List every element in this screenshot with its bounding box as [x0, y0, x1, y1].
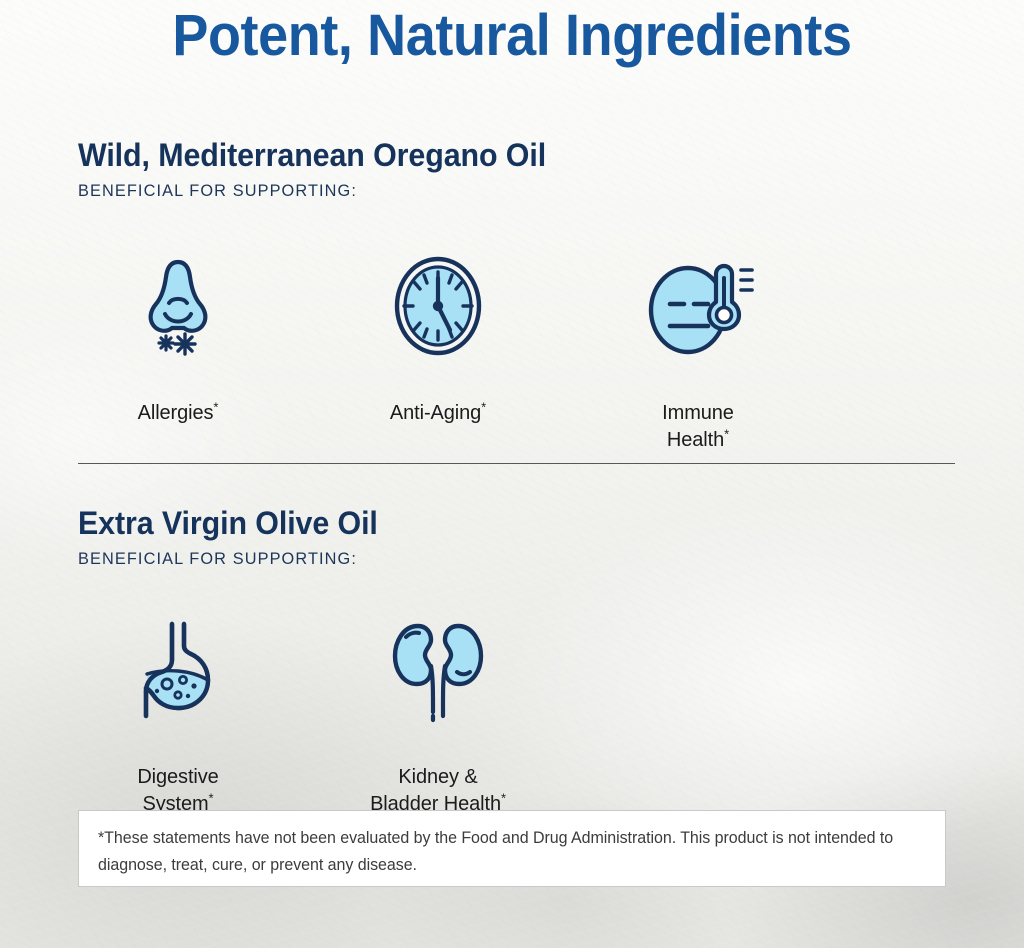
- page-title: Potent, Natural Ingredients: [36, 2, 988, 69]
- benefit-label-kidney-bladder: Kidney & Bladder Health*: [370, 738, 506, 817]
- section-olive-oil: Extra Virgin Olive Oil BENEFICIAL FOR SU…: [78, 506, 394, 569]
- section-divider: [78, 463, 955, 464]
- footnote-asterisk: *: [213, 400, 218, 415]
- section-subtitle-olive: BENEFICIAL FOR SUPPORTING:: [78, 549, 381, 569]
- benefit-label-text: Kidney & Bladder Health: [370, 766, 501, 814]
- footnote-asterisk: *: [481, 400, 486, 415]
- benefit-label-text: Allergies: [138, 402, 214, 424]
- benefit-allergies: Allergies*: [48, 252, 308, 453]
- section-title-olive: Extra Virgin Olive Oil: [78, 506, 378, 542]
- benefit-label-anti-aging: Anti-Aging*: [390, 374, 486, 427]
- disclaimer-box: *These statements have not been evaluate…: [78, 810, 946, 887]
- section-subtitle-oregano: BENEFICIAL FOR SUPPORTING:: [78, 181, 551, 201]
- section-oregano-oil: Wild, Mediterranean Oregano Oil BENEFICI…: [78, 138, 571, 201]
- kidneys-bladder-icon: [386, 616, 490, 724]
- section-title-oregano: Wild, Mediterranean Oregano Oil: [78, 138, 546, 174]
- benefit-row-oregano: Allergies*: [48, 252, 828, 453]
- stomach-icon: [126, 616, 230, 724]
- infographic-content: Potent, Natural Ingredients Wild, Medite…: [0, 0, 1024, 948]
- nose-allergy-icon: [126, 252, 230, 360]
- benefit-kidney-bladder: Kidney & Bladder Health*: [308, 616, 568, 817]
- benefit-digestive-system: Digestive System*: [48, 616, 308, 817]
- footnote-asterisk: *: [209, 790, 214, 805]
- benefit-row-olive: Digestive System*: [48, 616, 568, 817]
- footnote-asterisk: *: [724, 426, 729, 441]
- benefit-label-text: Digestive System: [137, 766, 218, 814]
- benefit-anti-aging: Anti-Aging*: [308, 252, 568, 453]
- footnote-asterisk: *: [501, 790, 506, 805]
- benefit-label-text: Anti-Aging: [390, 402, 481, 424]
- benefit-immune-health: Immune Health*: [568, 252, 828, 453]
- benefit-label-digestive-system: Digestive System*: [137, 738, 218, 817]
- benefit-label-immune-health: Immune Health*: [662, 374, 734, 453]
- clock-anti-aging-icon: [386, 252, 490, 360]
- disclaimer-text: *These statements have not been evaluate…: [98, 825, 901, 878]
- benefit-label-allergies: Allergies*: [138, 374, 219, 427]
- sick-face-thermometer-icon: [642, 252, 754, 360]
